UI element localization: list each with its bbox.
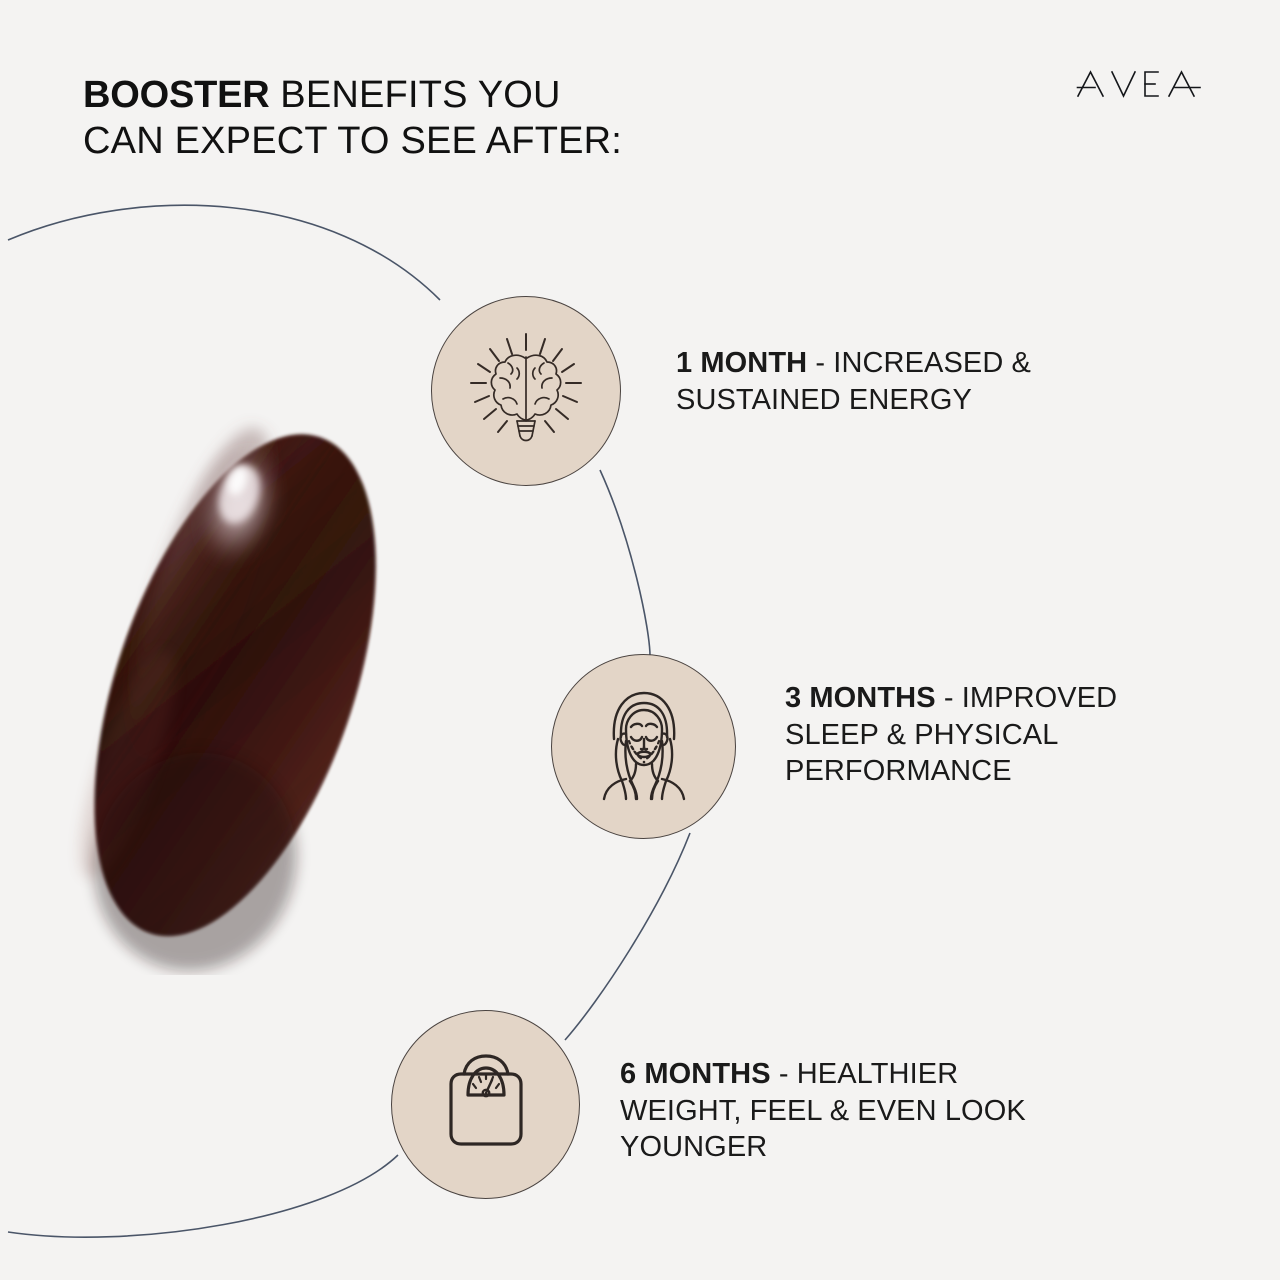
brand-logo <box>1076 66 1208 111</box>
benefit-icon-6-months[interactable] <box>391 1010 580 1199</box>
benefit-period-1: 1 MONTH <box>676 347 807 379</box>
benefit-separator-2: - <box>936 682 962 714</box>
page-title: BOOSTER BENEFITS YOU CAN EXPECT TO SEE A… <box>83 72 622 165</box>
bathroom-scale-icon <box>421 1040 551 1170</box>
avea-wordmark-icon <box>1076 66 1208 102</box>
benefit-label-6-months: 6 MONTHS - HEALTHIER WEIGHT, FEEL & EVEN… <box>620 1056 1040 1166</box>
promo-graphic: BOOSTER BENEFITS YOU CAN EXPECT TO SEE A… <box>0 0 1280 1280</box>
softgel-capsule-icon <box>55 395 415 975</box>
benefit-separator-3: - <box>771 1058 797 1090</box>
womans-face-icon <box>574 677 714 817</box>
benefit-label-1-month: 1 MONTH - INCREASED & SUSTAINED ENERGY <box>676 345 1106 418</box>
benefit-label-3-months: 3 MONTHS - IMPROVED SLEEP & PHYSICAL PER… <box>785 680 1205 790</box>
product-capsule <box>55 395 415 975</box>
brain-lightbulb-icon <box>451 316 601 466</box>
benefit-period-3: 6 MONTHS <box>620 1058 771 1090</box>
benefit-separator-1: - <box>807 347 833 379</box>
benefit-icon-1-month[interactable] <box>431 296 621 486</box>
benefit-icon-3-months[interactable] <box>551 654 736 839</box>
benefit-period-2: 3 MONTHS <box>785 682 936 714</box>
headline-bold-word: BOOSTER <box>83 74 270 116</box>
